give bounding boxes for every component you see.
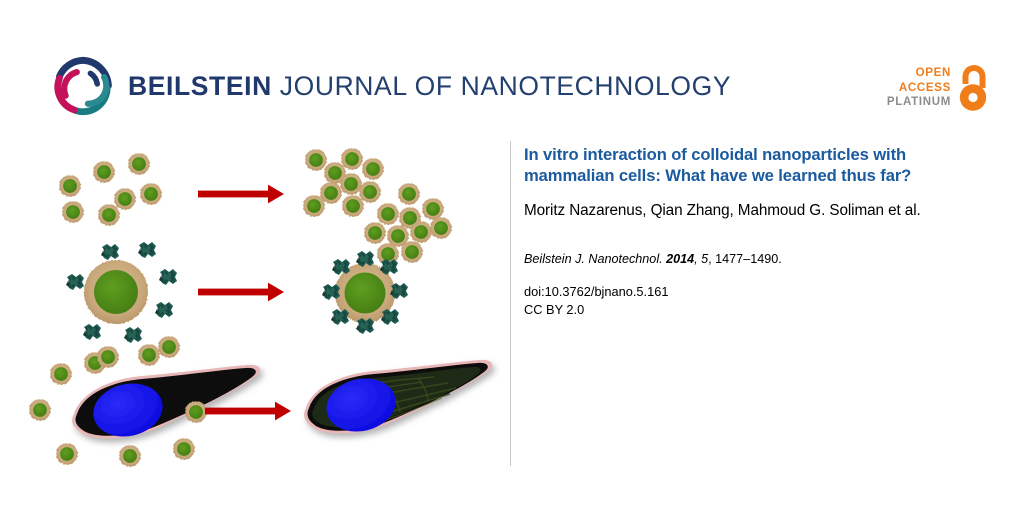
journal-wordmark: BEILSTEIN JOURNAL OF NANOTECHNOLOGY (128, 73, 731, 102)
wordmark-bold: BEILSTEIN (128, 71, 272, 101)
nanoparticle-with-bound-proteins (322, 251, 408, 334)
graphical-abstract-svg (20, 136, 500, 476)
open-access-badge-text: OPEN ACCESS PLATINUM (887, 66, 951, 110)
journal-logo[interactable]: BEILSTEIN JOURNAL OF NANOTECHNOLOGY (52, 56, 731, 118)
vertical-divider (510, 141, 511, 466)
graphical-abstract-figure (20, 136, 500, 476)
oa-line-open: OPEN (887, 66, 951, 81)
article-info: In vitro interaction of colloidal nanopa… (524, 144, 956, 320)
cell-with-internalized-particles (304, 360, 492, 438)
citation-year: 2014 (666, 252, 694, 266)
article-citation: Beilstein J. Nanotechnol. 2014, 5, 1477–… (524, 251, 956, 269)
citation-journal: Beilstein J. Nanotechnol. (524, 252, 663, 266)
graphical-abstract-card: BEILSTEIN JOURNAL OF NANOTECHNOLOGY OPEN… (0, 0, 1024, 512)
oa-line-access: ACCESS (887, 81, 951, 96)
open-lock-icon (956, 64, 990, 112)
nanoparticle-aggregate-1 (303, 148, 384, 217)
citation-pages: 1477–1490. (715, 252, 782, 266)
arrow-aggregation (198, 185, 284, 204)
article-title[interactable]: In vitro interaction of colloidal nanopa… (524, 144, 956, 187)
beilstein-spiral-logo-icon (52, 56, 114, 118)
arrow-cell-uptake (205, 402, 291, 421)
open-access-badge[interactable]: OPEN ACCESS PLATINUM (887, 57, 990, 119)
nanoparticle-with-corona (84, 260, 148, 324)
stray-nanoparticle-a (138, 344, 160, 366)
article-doi[interactable]: doi:10.3762/bjnano.5.161 (524, 283, 956, 302)
article-meta: doi:10.3762/bjnano.5.161 CC BY 2.0 (524, 283, 956, 320)
figure-row-cell-uptake (29, 336, 492, 467)
cell-with-external-particles (72, 365, 260, 443)
oa-line-platinum: PLATINUM (887, 95, 951, 110)
article-authors: Moritz Nazarenus, Qian Zhang, Mahmoud G.… (524, 201, 956, 221)
wordmark-light: JOURNAL OF NANOTECHNOLOGY (272, 71, 731, 101)
journal-header: BEILSTEIN JOURNAL OF NANOTECHNOLOGY OPEN… (0, 0, 1024, 136)
dispersed-nanoparticles (59, 153, 162, 226)
article-license[interactable]: CC BY 2.0 (524, 301, 956, 320)
arrow-protein-binding (198, 283, 284, 302)
